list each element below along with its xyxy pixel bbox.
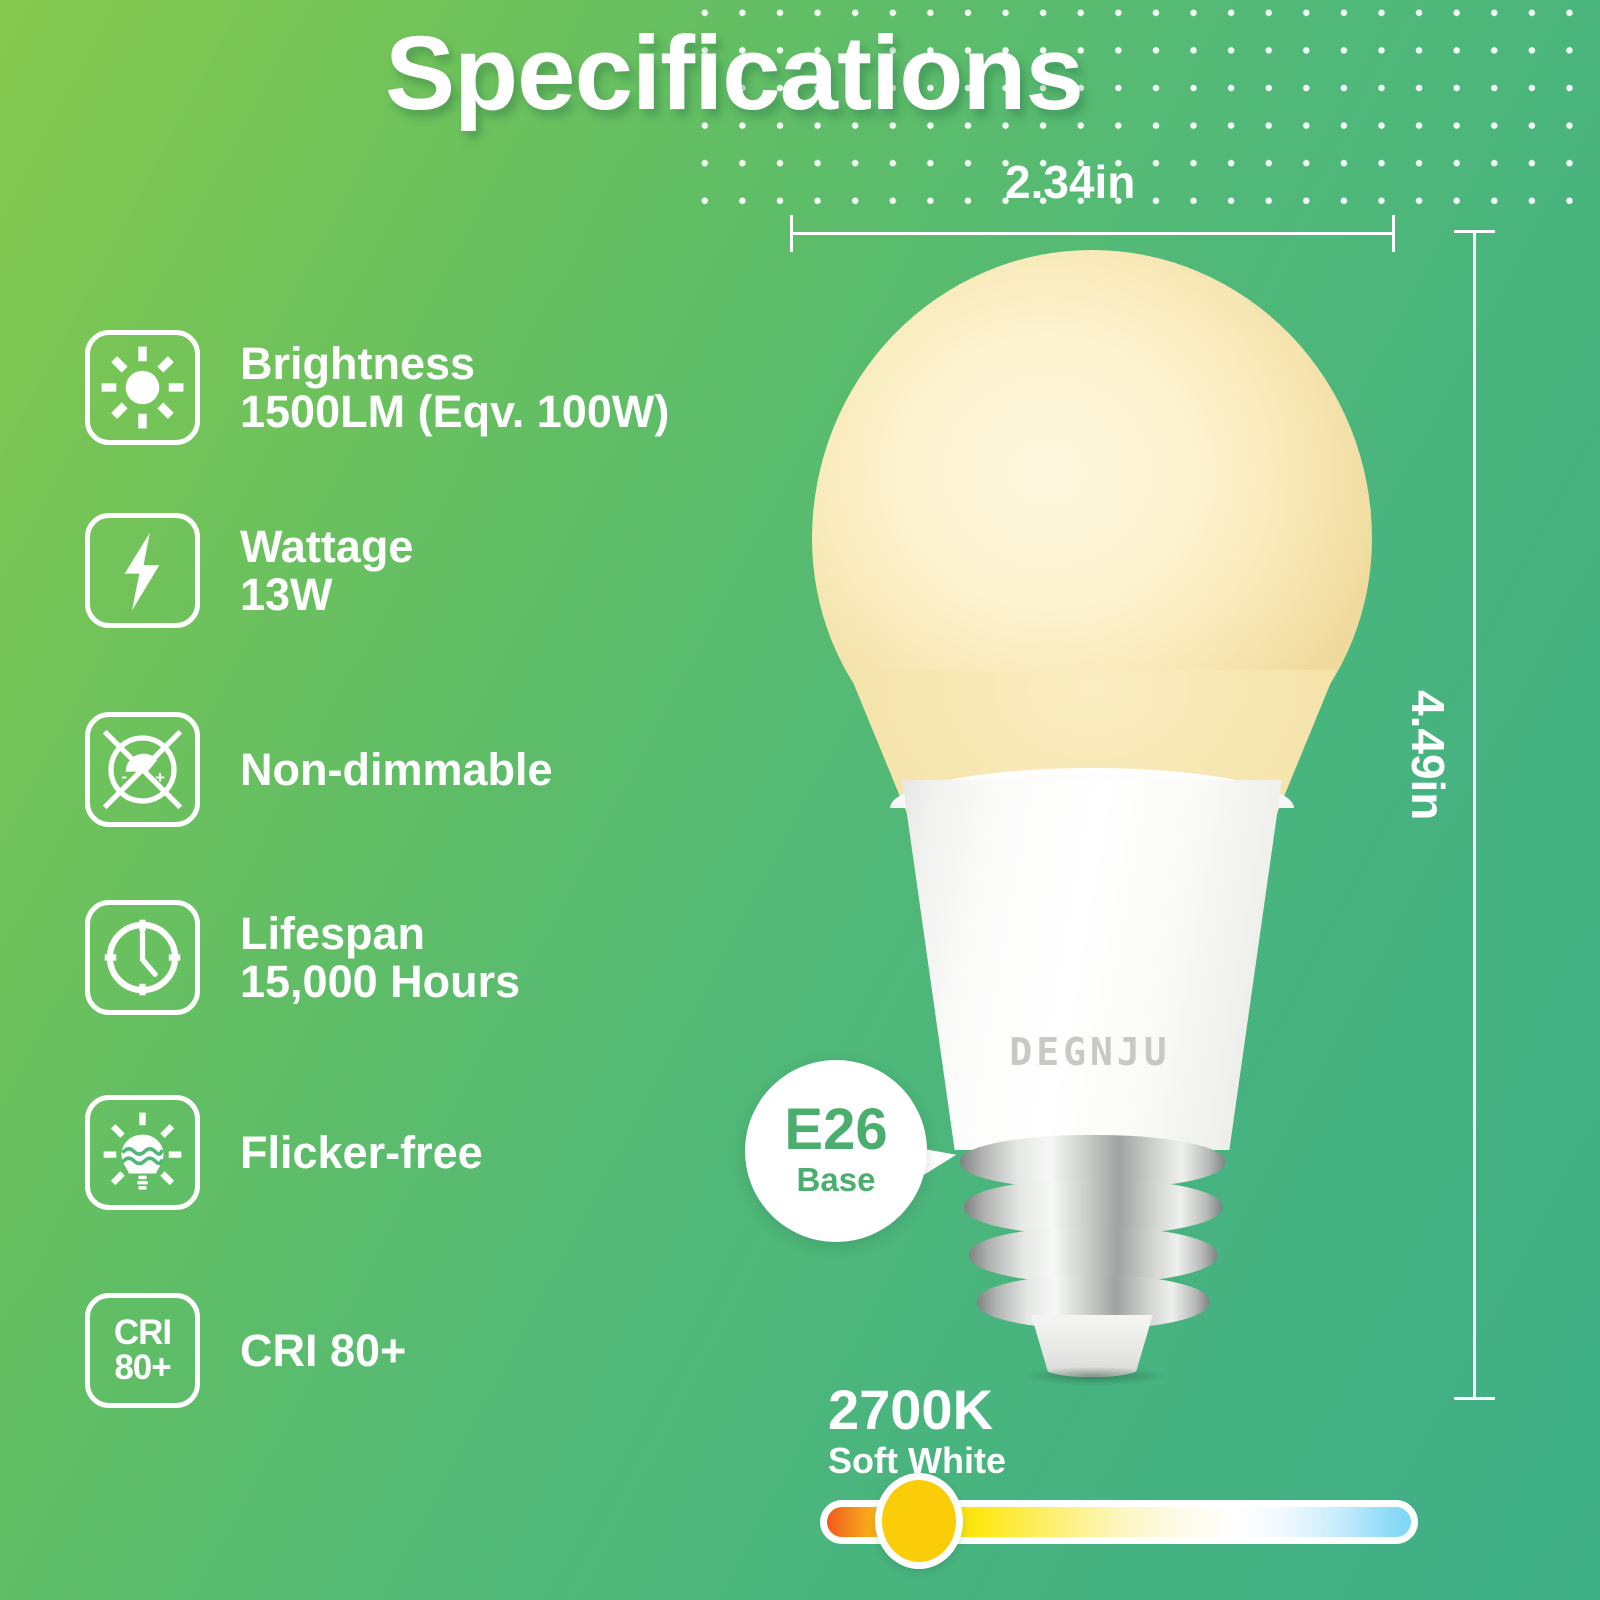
spec-text-flicker-free: Flicker-free <box>240 1129 483 1177</box>
bulb-drop-shadow <box>994 1363 1194 1389</box>
cri-icon-top: CRI <box>114 1316 171 1350</box>
e26-callout-title: E26 <box>784 1101 887 1159</box>
no-dimmer-icon: - + <box>85 712 200 827</box>
spec-value: 1500LM (Eqv. 100W) <box>240 388 669 436</box>
spec-text-brightness: Brightness 1500LM (Eqv. 100W) <box>240 340 669 435</box>
color-temperature-label: 2700K Soft White <box>828 1382 1006 1483</box>
spec-text-lifespan: Lifespan 15,000 Hours <box>240 910 520 1005</box>
e26-base-callout: E26 Base <box>745 1060 927 1242</box>
sun-icon <box>85 330 200 445</box>
spec-item-wattage: Wattage 13W <box>85 513 413 628</box>
spec-item-flicker-free: Flicker-free <box>85 1095 483 1210</box>
lightning-icon <box>85 513 200 628</box>
spec-value: 15,000 Hours <box>240 958 520 1006</box>
spec-label: CRI 80+ <box>240 1327 406 1375</box>
spec-item-lifespan: Lifespan 15,000 Hours <box>85 900 520 1015</box>
kelvin-value: 2700K <box>828 1382 1006 1438</box>
spec-label: Lifespan <box>240 910 520 958</box>
spec-item-non-dimmable: - + Non-dimmable <box>85 712 553 827</box>
spec-label: Flicker-free <box>240 1129 483 1177</box>
color-temperature-slider-thumb[interactable] <box>875 1473 963 1569</box>
spec-item-brightness: Brightness 1500LM (Eqv. 100W) <box>85 330 669 445</box>
spec-label: Brightness <box>240 340 669 388</box>
spec-label: Non-dimmable <box>240 746 553 794</box>
spec-value: 13W <box>240 571 413 619</box>
specifications-infographic: Specifications <box>0 0 1600 1600</box>
cri-icon-bottom: 80+ <box>114 1351 170 1385</box>
bulb-screw-base <box>960 1135 1225 1380</box>
flicker-free-icon <box>85 1095 200 1210</box>
spec-text-non-dimmable: Non-dimmable <box>240 746 553 794</box>
spec-text-wattage: Wattage 13W <box>240 523 413 618</box>
clock-icon <box>85 900 200 1015</box>
spec-label: Wattage <box>240 523 413 571</box>
height-dimension-line <box>1473 230 1476 1400</box>
width-dimension-line <box>790 232 1395 235</box>
spec-list: Brightness 1500LM (Eqv. 100W) Wattage 13… <box>0 0 780 1600</box>
cri-icon: CRI 80+ <box>85 1293 200 1408</box>
spec-item-cri: CRI 80+ CRI 80+ <box>85 1293 406 1408</box>
e26-callout-subtitle: Base <box>797 1159 876 1200</box>
width-dimension-label: 2.34in <box>1005 155 1135 209</box>
bulb-neck-housing <box>890 780 1294 1150</box>
spec-text-cri: CRI 80+ <box>240 1327 406 1375</box>
